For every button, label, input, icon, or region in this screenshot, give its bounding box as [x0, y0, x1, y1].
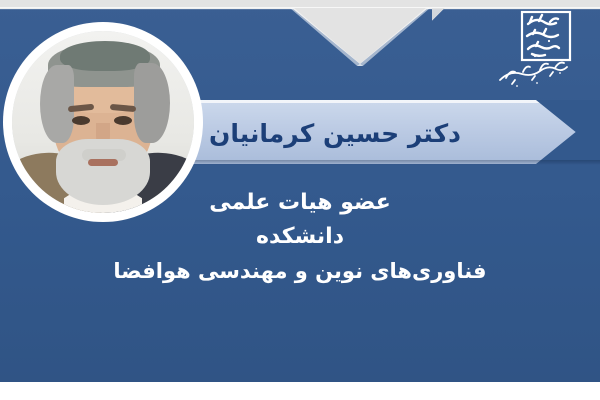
person-name: دکتر حسین کرمانیان [150, 105, 520, 161]
info-line-2: دانشکده [0, 220, 600, 254]
portrait-mouth [88, 159, 118, 166]
profile-card: دکتر حسین کرمانیان [0, 0, 600, 400]
portrait-hair-left [40, 65, 74, 143]
university-logo [492, 10, 584, 90]
portrait-hair-right [134, 63, 170, 143]
portrait-eye-right [114, 116, 132, 125]
portrait-eye-left [72, 116, 90, 125]
info-line-1: عضو هیات علمی [0, 186, 600, 220]
info-block: عضو هیات علمی دانشکده فناوری‌های نوین و … [0, 186, 600, 288]
info-line-3: فناوری‌های نوین و مهندسی هوافضا [0, 254, 600, 288]
